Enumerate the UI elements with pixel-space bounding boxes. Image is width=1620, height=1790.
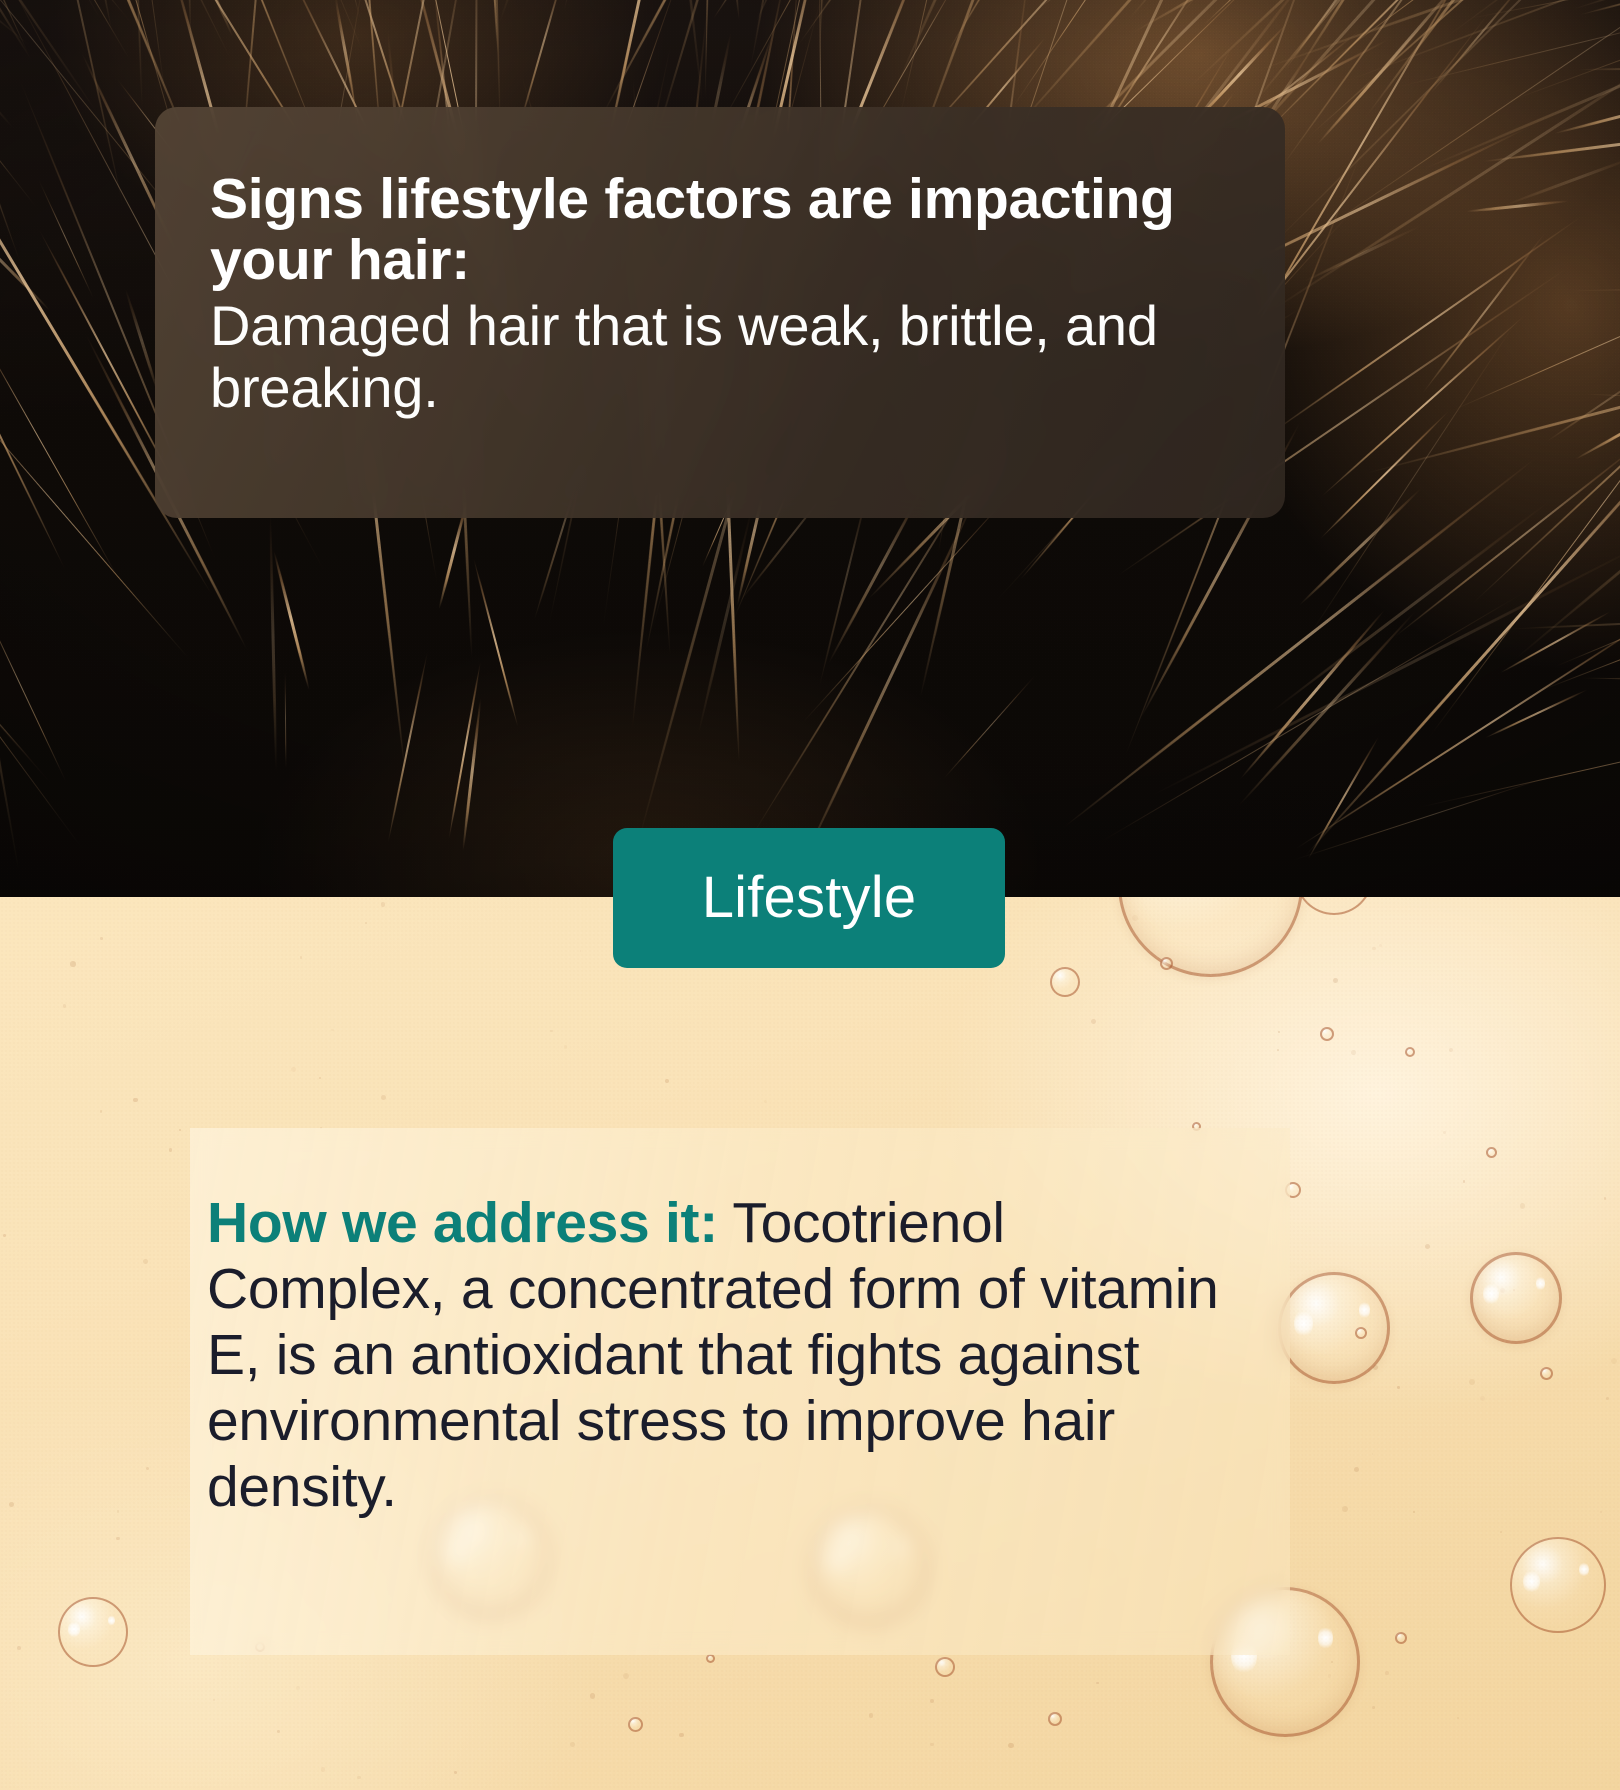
serum-image-section: How we address it: Tocotrienol Complex, … — [0, 897, 1620, 1790]
category-badge-lifestyle[interactable]: Lifestyle — [613, 828, 1005, 968]
poster-root: Signs lifestyle factors are impacting yo… — [0, 0, 1620, 1790]
solution-paragraph: How we address it: Tocotrienol Complex, … — [207, 1190, 1234, 1521]
how-we-address-panel: How we address it: Tocotrienol Complex, … — [190, 1128, 1290, 1655]
lifestyle-signs-card: Signs lifestyle factors are impacting yo… — [155, 107, 1285, 518]
hair-image-section: Signs lifestyle factors are impacting yo… — [0, 0, 1620, 897]
solution-lead-in: How we address it: — [207, 1191, 718, 1255]
category-badge-label: Lifestyle — [702, 869, 917, 927]
card-heading: Signs lifestyle factors are impacting yo… — [210, 169, 1227, 291]
card-body-text: Damaged hair that is weak, brittle, and … — [210, 295, 1227, 418]
